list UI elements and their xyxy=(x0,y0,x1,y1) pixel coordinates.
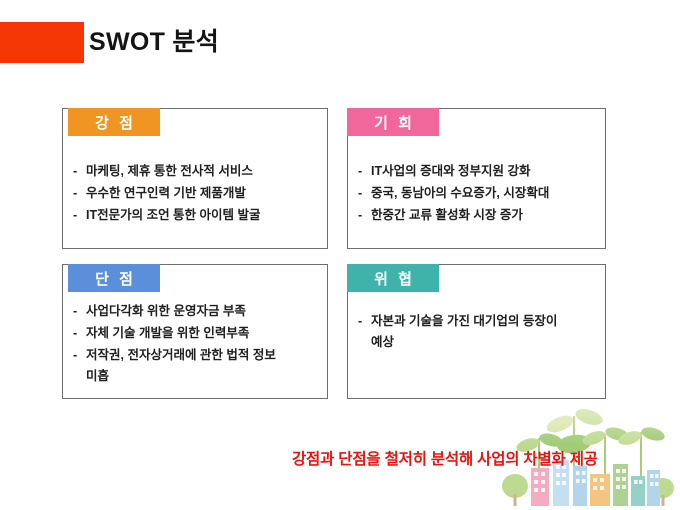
bullet-text: IT전문가의 조언 통한 아이템 발굴 xyxy=(86,205,261,226)
quadrant-weaknesses: 단 점 - 사업다각화 위한 운영자금 부족 - 자체 기술 개발을 위한 인력… xyxy=(62,264,328,399)
quadrant-threats-label: 위 협 xyxy=(347,264,439,292)
bullet-text: 사업다각화 위한 운영자금 부족 xyxy=(86,301,246,322)
bullet-marker: - xyxy=(358,183,371,204)
bullet-text: 자본과 기술을 가진 대기업의 등장이 예상 xyxy=(371,311,557,353)
swot-slide: SWOT 분석 강 점 - 마케팅, 제휴 통한 전사적 서비스 - 우수한 연… xyxy=(0,0,680,510)
bullet-marker: - xyxy=(73,301,86,322)
list-item: - 자체 기술 개발을 위한 인력부족 xyxy=(73,323,317,344)
bullet-marker: - xyxy=(73,161,86,182)
bullet-text: 중국, 동남아의 수요증가, 시장확대 xyxy=(371,183,549,204)
list-item: - 저작권, 전자상거래에 관한 법적 정보 미흡 xyxy=(73,345,317,387)
quadrant-weaknesses-label: 단 점 xyxy=(68,264,160,292)
title-accent-block xyxy=(0,22,84,63)
bullet-marker: - xyxy=(73,205,86,226)
quadrant-threats: 위 협 - 자본과 기술을 가진 대기업의 등장이 예상 xyxy=(347,264,606,399)
bullet-marker: - xyxy=(358,311,371,353)
list-item: - 사업다각화 위한 운영자금 부족 xyxy=(73,301,317,322)
bullet-marker: - xyxy=(358,161,371,182)
quadrant-opportunities: 기 회 - IT사업의 증대와 정부지원 강화 - 중국, 동남아의 수요증가,… xyxy=(347,108,606,249)
bullet-text: 한중간 교류 활성화 시장 증가 xyxy=(371,205,523,226)
list-item: - 자본과 기술을 가진 대기업의 등장이 예상 xyxy=(358,311,595,353)
list-item: - 우수한 연구인력 기반 제품개발 xyxy=(73,183,317,204)
bullet-text: IT사업의 증대와 정부지원 강화 xyxy=(371,161,531,182)
bullet-marker: - xyxy=(73,323,86,344)
bullet-text: 저작권, 전자상거래에 관한 법적 정보 미흡 xyxy=(86,345,276,387)
bullet-marker: - xyxy=(73,345,86,387)
bullet-text: 마케팅, 제휴 통한 전사적 서비스 xyxy=(86,161,253,182)
bullet-text: 우수한 연구인력 기반 제품개발 xyxy=(86,183,246,204)
page-title: SWOT 분석 xyxy=(89,26,219,58)
quadrant-strengths-body: - 마케팅, 제휴 통한 전사적 서비스 - 우수한 연구인력 기반 제품개발 … xyxy=(63,161,327,227)
quadrant-threats-body: - 자본과 기술을 가진 대기업의 등장이 예상 xyxy=(348,311,605,354)
bullet-text: 자체 기술 개발을 위한 인력부족 xyxy=(86,323,249,344)
list-item: - IT사업의 증대와 정부지원 강화 xyxy=(358,161,595,182)
quadrant-strengths: 강 점 - 마케팅, 제휴 통한 전사적 서비스 - 우수한 연구인력 기반 제… xyxy=(62,108,328,249)
list-item: - 마케팅, 제휴 통한 전사적 서비스 xyxy=(73,161,317,182)
quadrant-weaknesses-body: - 사업다각화 위한 운영자금 부족 - 자체 기술 개발을 위한 인력부족 -… xyxy=(63,301,327,388)
list-item: - 한중간 교류 활성화 시장 증가 xyxy=(358,205,595,226)
list-item: - 중국, 동남아의 수요증가, 시장확대 xyxy=(358,183,595,204)
bottom-caption: 강점과 단점을 철저히 분석해 사업의 차별화 제공 xyxy=(292,447,598,469)
bullet-marker: - xyxy=(73,183,86,204)
quadrant-opportunities-body: - IT사업의 증대와 정부지원 강화 - 중국, 동남아의 수요증가, 시장확… xyxy=(348,161,605,227)
bullet-marker: - xyxy=(358,205,371,226)
quadrant-opportunities-label: 기 회 xyxy=(347,108,439,136)
list-item: - IT전문가의 조언 통한 아이템 발굴 xyxy=(73,205,317,226)
quadrant-strengths-label: 강 점 xyxy=(68,108,160,136)
